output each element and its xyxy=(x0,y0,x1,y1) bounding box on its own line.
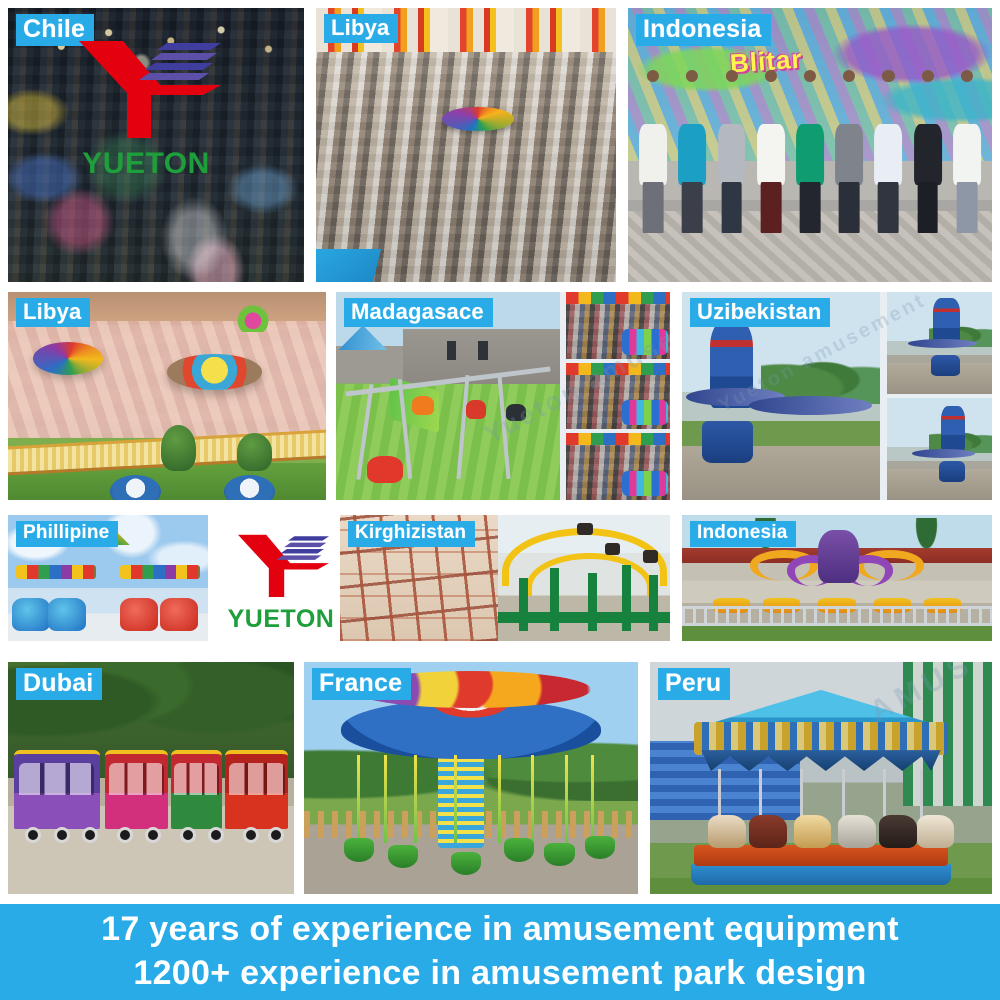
coaster-column xyxy=(588,573,597,631)
ring-ride xyxy=(442,107,514,132)
coaster-car xyxy=(605,543,620,556)
yueton-wordmark: YUETON xyxy=(228,607,335,632)
train-wheel xyxy=(208,827,224,843)
staff-group xyxy=(628,63,992,233)
country-label-peru: Peru xyxy=(658,668,730,700)
swing-seat-black xyxy=(506,404,526,421)
sub-photo-crowd-3 xyxy=(566,433,670,500)
sub-photo-ride-1 xyxy=(887,292,992,394)
water-ride xyxy=(224,475,275,500)
carousel-deck xyxy=(694,845,947,866)
coaster-car xyxy=(577,523,592,536)
blue-tent xyxy=(338,325,387,350)
carousel-horse xyxy=(838,815,876,847)
person xyxy=(674,63,710,233)
train-wheel xyxy=(145,827,161,843)
safety-fence xyxy=(682,606,992,626)
octopus-ride xyxy=(231,304,276,331)
carousel-horse xyxy=(879,815,917,847)
bush xyxy=(161,425,196,471)
country-label-uzbekistan: Uzibekistan xyxy=(690,298,830,327)
uzbekistan-sub-photos xyxy=(887,292,992,500)
panel-chile: YUETON Chile xyxy=(8,8,304,282)
madagascar-sub-photos xyxy=(566,292,670,500)
panel-indonesia-octopus: Indonesia xyxy=(682,515,992,641)
blue-tarp xyxy=(316,249,381,282)
swing-seat xyxy=(504,838,534,861)
country-label-france: France xyxy=(312,668,411,700)
sub-photo-crowd-1 xyxy=(566,292,670,359)
swing-seat-red2 xyxy=(466,400,486,419)
ride-car-blue xyxy=(48,598,86,631)
train-carriage-purple xyxy=(14,750,100,829)
ride-arm-right xyxy=(120,565,200,579)
train-wheel xyxy=(243,827,259,843)
panel-peru: AMUS Peru xyxy=(650,662,992,894)
train-wheel xyxy=(54,827,70,843)
carousel-canopy xyxy=(341,699,602,759)
carousel-horse xyxy=(794,815,832,847)
person xyxy=(831,63,867,233)
carousel-horse xyxy=(708,815,746,847)
bush xyxy=(237,433,272,470)
ride-base xyxy=(702,421,754,463)
yueton-y-mark-icon xyxy=(233,527,329,603)
banner-line-2: 1200+ experience in amusement park desig… xyxy=(133,952,866,996)
coaster-column xyxy=(649,575,658,630)
country-label-indonesia-1: Indonesia xyxy=(636,14,771,46)
water-ride xyxy=(110,475,161,500)
country-label-libya-1: Libya xyxy=(324,14,398,43)
swing-seat xyxy=(344,838,374,861)
carousel-crown-ornament xyxy=(694,722,947,754)
train-wheel xyxy=(25,827,41,843)
swing-seat-orange xyxy=(412,396,434,415)
palm-tree xyxy=(911,518,942,561)
photo-chile-night-crowd xyxy=(8,8,304,282)
carousel-column xyxy=(438,750,485,847)
country-label-indonesia-2: Indonesia xyxy=(690,521,796,547)
ride-arm-left xyxy=(16,565,96,579)
swing-chain xyxy=(591,755,594,843)
train-locomotive xyxy=(225,750,288,829)
panel-uzbekistan: Yueton amusement Uzibekistan xyxy=(682,292,992,500)
ride-car-blue xyxy=(12,598,50,631)
photo-libya-fairground xyxy=(316,8,616,282)
swing-chain xyxy=(357,755,360,843)
swing-seat xyxy=(451,852,481,875)
image-collage: YUETON Chile Libya Blitar xyxy=(0,0,1000,1000)
panel-kirghizistan: Kirghizistan xyxy=(340,515,670,641)
panel-libya-park: Libya xyxy=(8,292,326,500)
ride-arm xyxy=(749,396,872,415)
train-wheel xyxy=(117,827,133,843)
panel-philippines: Phillipine xyxy=(8,515,208,641)
swing-seat xyxy=(544,843,574,866)
swing-chain xyxy=(498,755,501,843)
panel-libya-fair: Libya xyxy=(316,8,616,282)
train-wheel xyxy=(268,827,284,843)
grass xyxy=(682,623,992,641)
swing-seat-red xyxy=(367,456,403,483)
sub-photo-ride-2 xyxy=(887,398,992,500)
sub-photo-crowd-2 xyxy=(566,363,670,430)
swing-chain xyxy=(565,755,568,843)
train-wheel xyxy=(180,827,196,843)
ride-car-red xyxy=(160,598,198,631)
swing-seat xyxy=(388,845,418,868)
person xyxy=(792,63,828,233)
photo-kirghizistan-coaster xyxy=(498,515,670,641)
bottom-banner: 17 years of experience in amusement equi… xyxy=(0,904,1000,1000)
banner-line-1: 17 years of experience in amusement equi… xyxy=(101,908,899,952)
octopus-body xyxy=(818,530,858,583)
swing-seat xyxy=(585,836,615,859)
photo-indonesia-group: Blitar xyxy=(628,8,992,282)
person xyxy=(753,63,789,233)
coaster-car xyxy=(643,550,658,563)
teacup-ride xyxy=(167,354,262,389)
panel-madagascar: Yueton amusement Madagasace xyxy=(336,292,670,500)
country-label-dubai: Dubai xyxy=(16,668,102,700)
train-carriage-pink xyxy=(105,750,168,829)
ride-car-red xyxy=(120,598,158,631)
country-label-kirghizistan: Kirghizistan xyxy=(348,521,475,547)
country-label-philippines: Phillipine xyxy=(16,521,118,547)
coaster-column xyxy=(550,568,559,631)
panel-france: France xyxy=(304,662,638,894)
carousel-horse xyxy=(749,815,787,847)
panel-dubai: Dubai xyxy=(8,662,294,894)
person xyxy=(949,63,985,233)
carousel-base xyxy=(691,864,951,885)
person xyxy=(635,63,671,233)
paved-plaza xyxy=(8,321,326,437)
country-label-madagascar: Madagasace xyxy=(344,298,493,327)
swing-chain xyxy=(454,755,457,843)
train-wheel xyxy=(82,827,98,843)
person xyxy=(910,63,946,233)
swing-chain xyxy=(531,755,534,843)
coaster-column xyxy=(519,578,528,631)
swing-chain xyxy=(414,755,417,843)
panel-indonesia-group: Blitar Indonesia xyxy=(628,8,992,282)
country-label-chile: Chile xyxy=(16,14,94,46)
yueton-logo-block: YUETON xyxy=(222,518,340,640)
person xyxy=(714,63,750,233)
person xyxy=(871,63,907,233)
country-label-libya-2: Libya xyxy=(16,298,90,327)
carousel-horse xyxy=(917,815,955,847)
train-carriage-red xyxy=(171,750,222,829)
coaster-column xyxy=(622,565,631,631)
swing-chain xyxy=(384,755,387,843)
